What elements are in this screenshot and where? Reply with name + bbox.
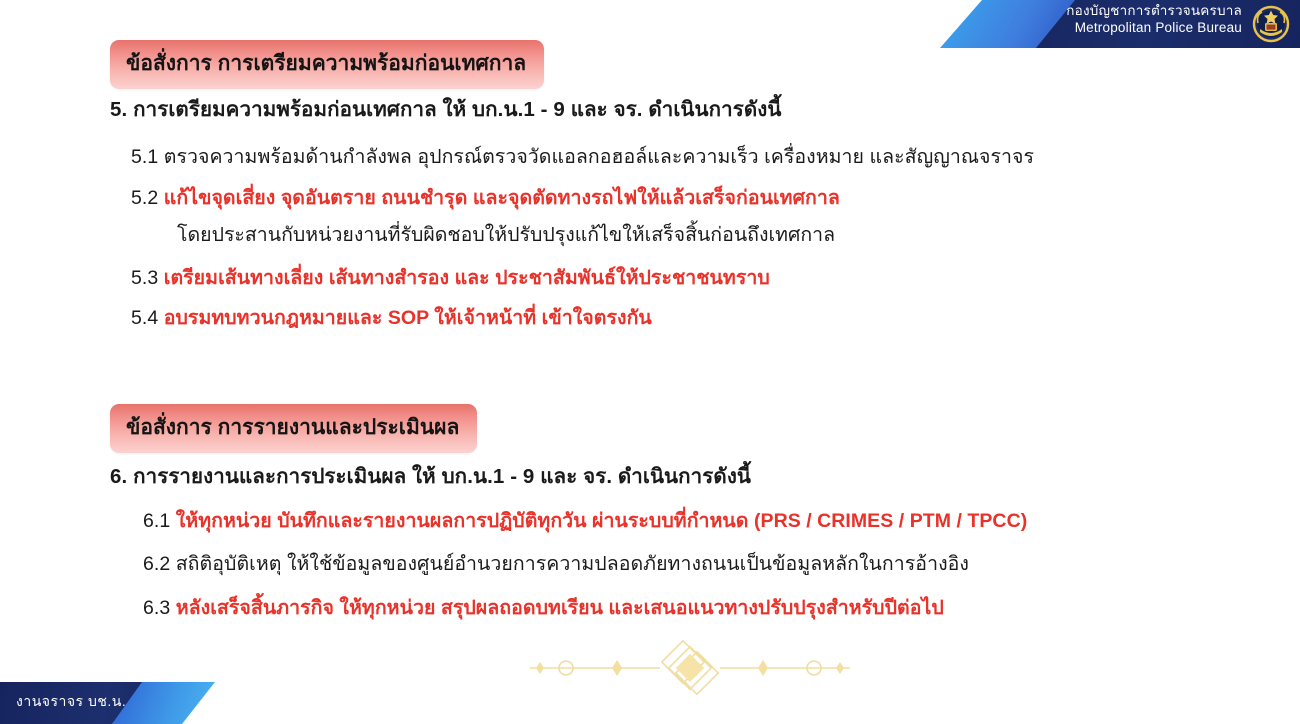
list-item-text: หลังเสร็จสิ้นภารกิจ ให้ทุกหน่วย สรุปผลถอ…	[176, 597, 944, 619]
header-org-text: กองบัญชาการตำรวจนครบาล Metropolitan Poli…	[1066, 2, 1242, 37]
list-item-6-3: 6.3 หลังเสร็จสิ้นภารกิจ ให้ทุกหน่วย สรุป…	[143, 592, 944, 623]
header-org-thai: กองบัญชาการตำรวจนครบาล	[1066, 2, 1242, 19]
section-badge-reporting: ข้อสั่งการ การรายงานและประเมินผล	[110, 404, 477, 453]
footer-tab: งานจราจร บช.น.	[0, 682, 215, 724]
list-item-5-3: 5.3 เตรียมเส้นทางเลี่ยง เส้นทางสำรอง และ…	[131, 262, 770, 293]
list-item-6-2: 6.2 สถิติอุบัติเหตุ ให้ใช้ข้อมูลของศูนย์…	[143, 548, 969, 579]
list-item-number: 5.2	[131, 187, 164, 209]
list-item-number: 6.1	[143, 510, 176, 532]
list-item-5-1: 5.1 ตรวจความพร้อมด้านกำลังพล อุปกรณ์ตรวจ…	[131, 141, 1034, 172]
decorative-divider-icon	[500, 640, 880, 695]
police-emblem-icon	[1250, 3, 1292, 45]
header-banner: กองบัญชาการตำรวจนครบาล Metropolitan Poli…	[940, 0, 1300, 48]
list-item-text: แก้ไขจุดเสี่ยง จุดอันตราย ถนนชำรุด และจุ…	[164, 187, 840, 209]
list-item-text: ตรวจความพร้อมด้านกำลังพล อุปกรณ์ตรวจวัดแ…	[164, 146, 1034, 168]
list-item-5-2: 5.2 แก้ไขจุดเสี่ยง จุดอันตราย ถนนชำรุด แ…	[131, 182, 840, 213]
list-item-text: เตรียมเส้นทางเลี่ยง เส้นทางสำรอง และ ประ…	[164, 267, 770, 289]
list-item-6-1: 6.1 ให้ทุกหน่วย บันทึกและรายงานผลการปฏิบ…	[143, 505, 1027, 536]
footer-label: งานจราจร บช.น.	[16, 691, 126, 713]
list-item-number: 6.3	[143, 597, 176, 619]
list-item-text: อบรมทบทวนกฎหมายและ SOP ให้เจ้าหน้าที่ เข…	[164, 307, 652, 329]
list-item-number: 5.1	[131, 146, 164, 168]
list-item-text: สถิติอุบัติเหตุ ให้ใช้ข้อมูลของศูนย์อำนว…	[176, 553, 969, 575]
section-heading-6: 6. การรายงานและการประเมินผล ให้ บก.น.1 -…	[110, 460, 751, 493]
list-item-text: ให้ทุกหน่วย บันทึกและรายงานผลการปฏิบัติท…	[176, 510, 1028, 532]
section-heading-5: 5. การเตรียมความพร้อมก่อนเทศกาล ให้ บก.น…	[110, 93, 782, 126]
header-org-english: Metropolitan Police Bureau	[1066, 19, 1242, 36]
section-badge-preparation: ข้อสั่งการ การเตรียมความพร้อมก่อนเทศกาล	[110, 40, 544, 89]
list-item-number: 5.3	[131, 267, 164, 289]
list-item-5-2-subtext: โดยประสานกับหน่วยงานที่รับผิดชอบให้ปรับป…	[177, 219, 835, 250]
list-item-number: 6.2	[143, 553, 176, 575]
list-item-number: 5.4	[131, 307, 164, 329]
list-item-5-4: 5.4 อบรมทบทวนกฎหมายและ SOP ให้เจ้าหน้าที…	[131, 302, 652, 333]
